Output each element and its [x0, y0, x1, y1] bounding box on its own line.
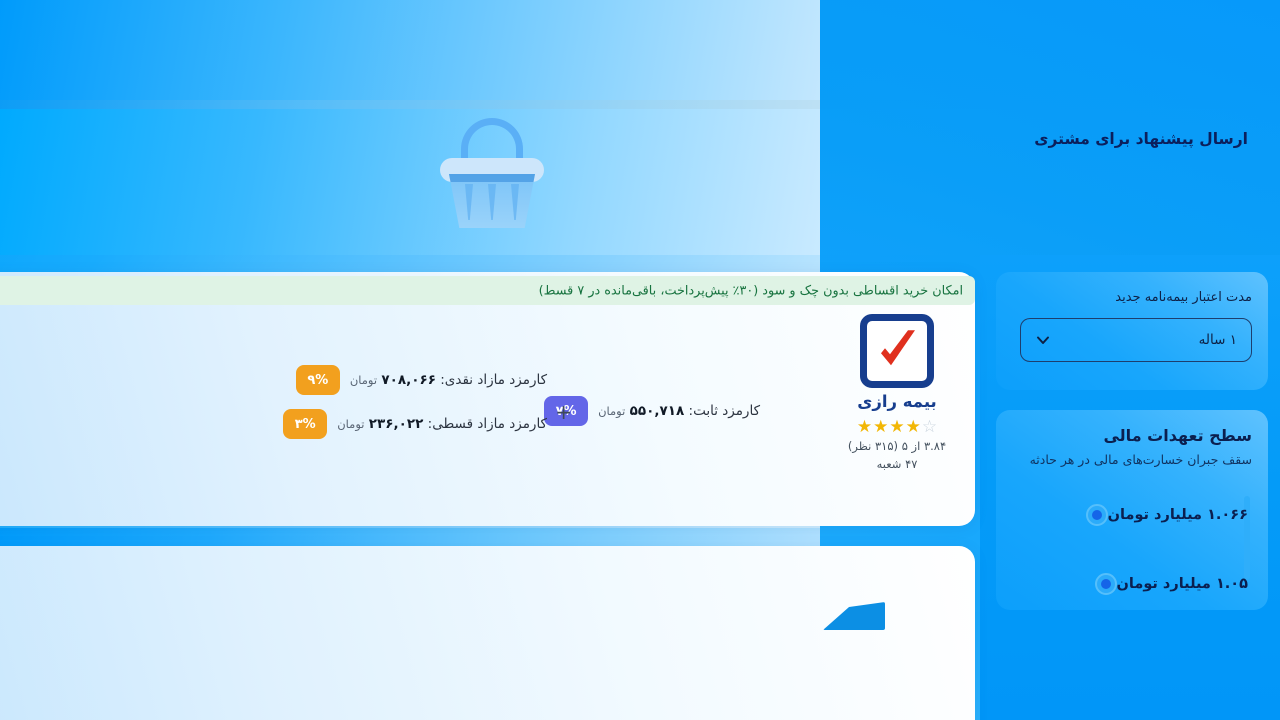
rating-stars: ★ ★ ★ ★ ☆: [837, 419, 957, 436]
fixed-fee-text: کارمزد ثابت: ۵۵۰,۷۱۸ تومان: [598, 403, 760, 419]
surcharge-badge: ۳%: [283, 409, 327, 439]
fixed-fee-row: کارمزد ثابت: ۵۵۰,۷۱۸ تومان ۷%: [544, 396, 760, 426]
basket-rib: [465, 184, 473, 220]
coverage-option[interactable]: ۱.۰۵ میلیارد تومان: [1095, 573, 1258, 595]
surcharge-list: کارمزد مازاد نقدی: ۷۰۸,۰۶۶ تومان ۹% کارم…: [283, 365, 547, 439]
star-icon: ★: [857, 419, 872, 436]
fixed-fee-unit: تومان: [598, 404, 625, 418]
plus-separator: +: [555, 400, 572, 424]
promo-banner-text: امکان خرید اقساطی بدون چک و سود (۳۰٪ پیش…: [539, 283, 963, 298]
surcharge-amount: ۷۰۸,۰۶۶: [381, 372, 436, 388]
star-icon: ★: [906, 419, 921, 436]
star-icon: ★: [873, 419, 888, 436]
shopping-basket-icon: [432, 118, 552, 228]
offer-card[interactable]: بیمه رازی ★ ★ ★ ★ ☆ ۳.۸۴ از ۵ (۳۱۵ نظر) …: [0, 272, 975, 526]
basket-body: [449, 174, 535, 228]
page-title: ارسال پیشنهاد برای مشتری: [1034, 130, 1248, 148]
coverage-option-label: ۱.۰۵ میلیارد تومان: [1117, 576, 1248, 592]
policy-duration-select[interactable]: ۱ ساله: [1020, 318, 1252, 362]
basket-rib: [488, 184, 496, 220]
policy-duration-value: ۱ ساله: [1199, 332, 1237, 348]
promo-banner: امکان خرید اقساطی بدون چک و سود (۳۰٪ پیش…: [0, 276, 975, 305]
radio-dot: [1092, 510, 1102, 520]
coverage-radio[interactable]: [1086, 504, 1108, 526]
fixed-fee-amount: ۵۵۰,۷۱۸: [630, 403, 685, 419]
razi-check-logo-icon: [860, 314, 934, 388]
offer-card-secondary[interactable]: [0, 546, 975, 720]
coverage-subtitle: سقف جبران خسارت‌های مالی در هر حادثه: [1030, 452, 1252, 467]
surcharge-text: کارمزد مازاد نقدی: ۷۰۸,۰۶۶ تومان: [350, 372, 547, 388]
financial-coverage-panel: سطح تعهدات مالی سقف جبران خسارت‌های مالی…: [996, 410, 1268, 610]
branch-count: ۴۷ شعبه: [837, 457, 957, 471]
surcharge-amount: ۲۳۶,۰۲۲: [369, 416, 424, 432]
insurer-block: بیمه رازی ★ ★ ★ ★ ☆ ۳.۸۴ از ۵ (۳۱۵ نظر) …: [837, 314, 957, 471]
coverage-option[interactable]: ۱.۰۶۶ میلیارد تومان: [1086, 504, 1258, 526]
insurer-logo-partial-icon: [823, 602, 885, 630]
star-icon: ★: [889, 419, 904, 436]
policy-duration-panel: مدت اعتبار بیمه‌نامه جدید ۱ ساله: [996, 272, 1268, 390]
coverage-title: سطح تعهدات مالی: [1103, 426, 1252, 445]
surcharge-unit: تومان: [350, 373, 377, 387]
star-empty-icon: ☆: [922, 419, 937, 436]
coverage-radio[interactable]: [1095, 573, 1117, 595]
chevron-down-icon: [1035, 332, 1051, 348]
radio-dot: [1101, 579, 1111, 589]
surcharge-badge: ۹%: [296, 365, 340, 395]
insurer-name: بیمه رازی: [837, 392, 957, 411]
surcharge-row: کارمزد مازاد قسطی: ۲۳۶,۰۲۲ تومان ۳%: [283, 409, 547, 439]
coverage-option-label: ۱.۰۶۶ میلیارد تومان: [1108, 507, 1248, 523]
surcharge-unit: تومان: [337, 417, 364, 431]
red-check-icon: [875, 327, 919, 371]
rating-text: ۳.۸۴ از ۵ (۳۱۵ نظر): [837, 439, 957, 453]
surcharge-label: کارمزد مازاد نقدی:: [440, 372, 547, 388]
surcharge-row: کارمزد مازاد نقدی: ۷۰۸,۰۶۶ تومان ۹%: [283, 365, 547, 395]
app-root: ارسال پیشنهاد برای مشتری بیمه رازی ★ ★ ★…: [0, 0, 1280, 720]
policy-duration-label: مدت اعتبار بیمه‌نامه جدید: [1115, 290, 1252, 305]
fixed-fee-label: کارمزد ثابت:: [689, 403, 760, 419]
surcharge-label: کارمزد مازاد قسطی:: [428, 416, 547, 432]
basket-rib: [511, 184, 519, 220]
surcharge-text: کارمزد مازاد قسطی: ۲۳۶,۰۲۲ تومان: [337, 416, 547, 432]
